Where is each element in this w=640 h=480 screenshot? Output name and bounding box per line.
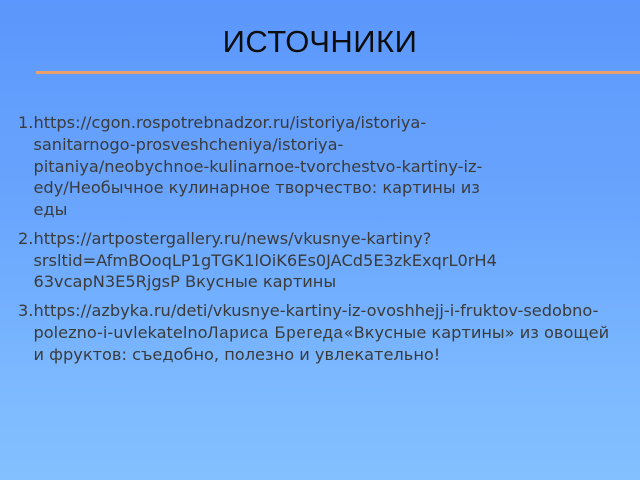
list-item-text: https://artpostergallery.ru/news/vkusnye… [33, 228, 503, 293]
list-item-author: Лариса Брегеда [208, 323, 344, 342]
list-item: 3.https://azbyka.ru/deti/vkusnye-kartiny… [18, 300, 622, 366]
list-item-marker: 3. [18, 300, 33, 322]
page-title: ИСТОЧНИКИ [0, 26, 640, 59]
list-item: 1.https://cgon.rospotrebnadzor.ru/istori… [18, 112, 622, 221]
title-divider [36, 71, 640, 74]
list-item-text: https://azbyka.ru/deti/vkusnye-kartiny-i… [33, 300, 622, 366]
list-item-marker: 1. [18, 112, 33, 134]
slide: ИСТОЧНИКИ 1.https://cgon.rospotrebnadzor… [0, 0, 640, 480]
list-item-text: https://cgon.rospotrebnadzor.ru/istoriya… [33, 112, 503, 221]
list-item: 2.https://artpostergallery.ru/news/vkusn… [18, 228, 622, 293]
list-item-marker: 2. [18, 228, 33, 250]
title-block: ИСТОЧНИКИ [0, 26, 640, 59]
reference-list: 1.https://cgon.rospotrebnadzor.ru/istori… [18, 112, 622, 368]
